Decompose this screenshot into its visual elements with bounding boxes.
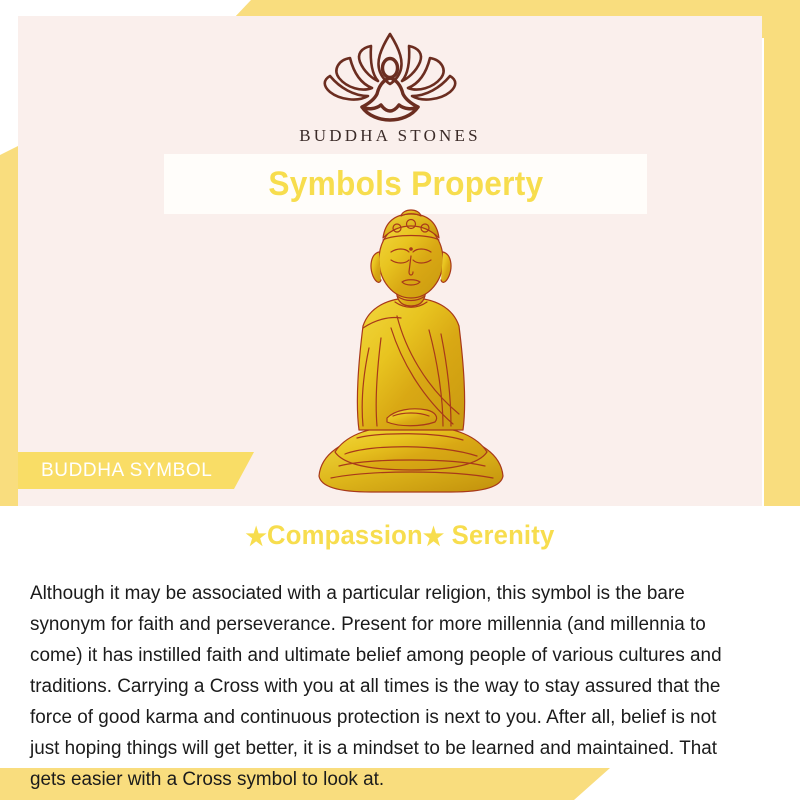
lower-panel: ★Compassion★ Serenity Although it may be… — [0, 506, 800, 768]
subtitle-compassion: Compassion — [267, 520, 423, 550]
title-band: Symbols Property — [164, 154, 647, 214]
brand-logo: BUDDHA STONES — [18, 28, 762, 146]
lotus-meditation-figure-icon — [314, 28, 466, 124]
subtitle-serenity: Serenity — [452, 520, 555, 550]
brand-wordmark: BUDDHA STONES — [18, 126, 762, 146]
body-paragraph: Although it may be associated with a par… — [30, 578, 746, 795]
subtitle: ★Compassion★ Serenity — [20, 520, 780, 552]
buddha-symbol-ribbon: BUDDHA SYMBOL — [18, 452, 254, 489]
buddha-symbol-ribbon-label: BUDDHA SYMBOL — [41, 460, 212, 482]
star-icon-left: ★ — [246, 523, 267, 551]
upper-panel: BUDDHA STONES Symbols Property — [18, 16, 762, 506]
star-icon-right: ★ — [423, 523, 444, 551]
golden-buddha-statue-illustration — [301, 208, 521, 508]
page-title: Symbols Property — [268, 165, 543, 204]
poster-canvas: BUDDHA STONES Symbols Property — [0, 0, 800, 800]
